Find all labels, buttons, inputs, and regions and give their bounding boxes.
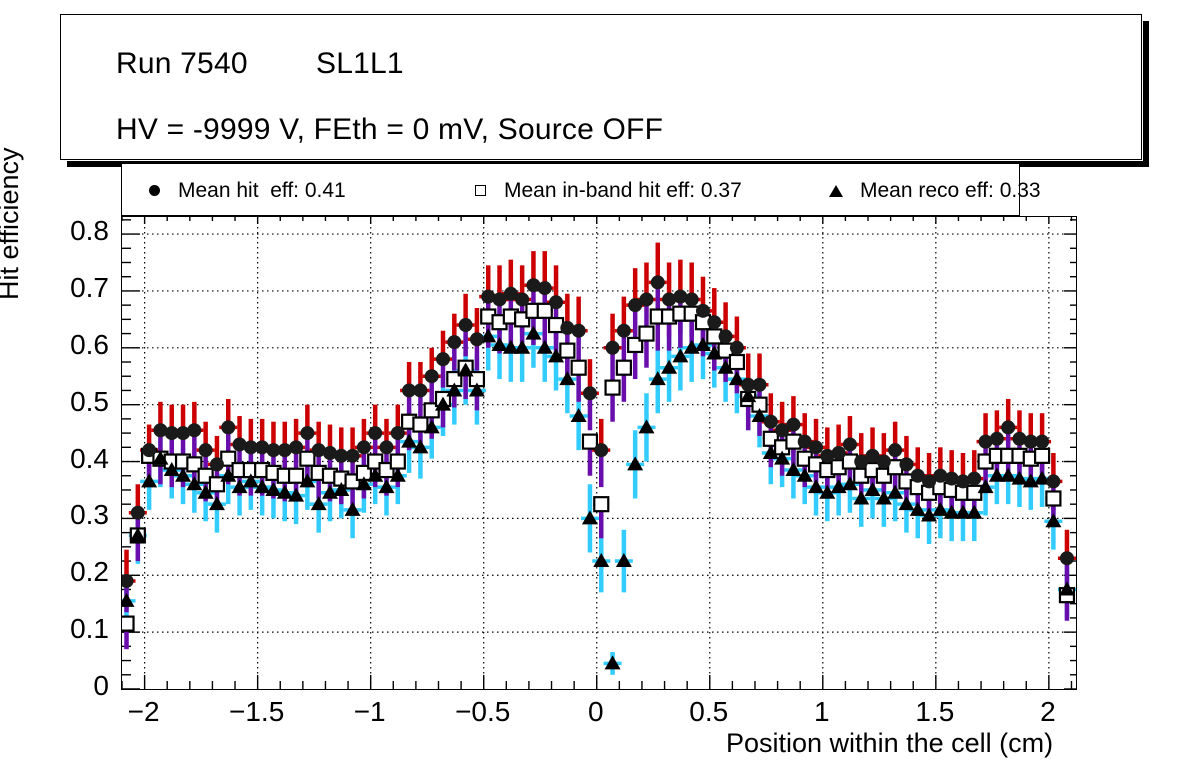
y-tick-label: 0.1 <box>19 613 109 645</box>
y-tick-label: 0.3 <box>19 499 109 531</box>
x-tick-label: −1.5 <box>212 696 302 728</box>
legend-entry-hit-eff: Mean hit eff: 0.41 <box>130 164 346 217</box>
x-tick-label: 0 <box>551 696 641 728</box>
legend-label-hit-eff: Mean hit eff: 0.41 <box>178 179 346 203</box>
legend-label-reco-eff: Mean reco eff: 0.33 <box>860 179 1041 203</box>
x-tick-label: 2 <box>1003 696 1093 728</box>
x-tick-label: 1 <box>777 696 867 728</box>
y-tick-label: 0 <box>19 670 109 702</box>
legend-entry-reco-eff: Mean reco eff: 0.33 <box>812 164 1041 217</box>
legend-box: Mean hit eff: 0.41 Mean in-band hit eff:… <box>121 163 1020 216</box>
title-line-run: Run 7540 SL1L1 <box>116 47 404 81</box>
filled-circle-icon <box>130 185 178 196</box>
x-axis-title: Position within the cell (cm) <box>726 728 1053 759</box>
filled-triangle-icon <box>812 185 860 197</box>
y-tick-label: 0.5 <box>19 386 109 418</box>
title-line-conditions: HV = -9999 V, FEth = 0 mV, Source OFF <box>116 113 663 147</box>
y-tick-label: 0.7 <box>19 272 109 304</box>
plot-area <box>122 217 1076 689</box>
open-square-icon <box>456 185 504 196</box>
x-tick-label: −0.5 <box>438 696 528 728</box>
y-tick-label: 0.2 <box>19 556 109 588</box>
legend-entry-inband-hit-eff: Mean in-band hit eff: 0.37 <box>456 164 742 217</box>
title-box: Run 7540 SL1L1 HV = -9999 V, FEth = 0 mV… <box>60 14 1142 160</box>
x-tick-label: −2 <box>99 696 189 728</box>
y-tick-label: 0.8 <box>19 215 109 247</box>
title-box-shadow-right <box>1143 21 1149 167</box>
x-tick-label: −1 <box>325 696 415 728</box>
y-tick-label: 0.6 <box>19 329 109 361</box>
x-tick-label: 1.5 <box>890 696 980 728</box>
plot-frame <box>121 216 1077 690</box>
legend-label-inband-hit-eff: Mean in-band hit eff: 0.37 <box>504 179 742 203</box>
x-tick-label: 0.5 <box>664 696 754 728</box>
y-tick-label: 0.4 <box>19 443 109 475</box>
plot-canvas: Run 7540 SL1L1 HV = -9999 V, FEth = 0 mV… <box>0 0 1196 772</box>
